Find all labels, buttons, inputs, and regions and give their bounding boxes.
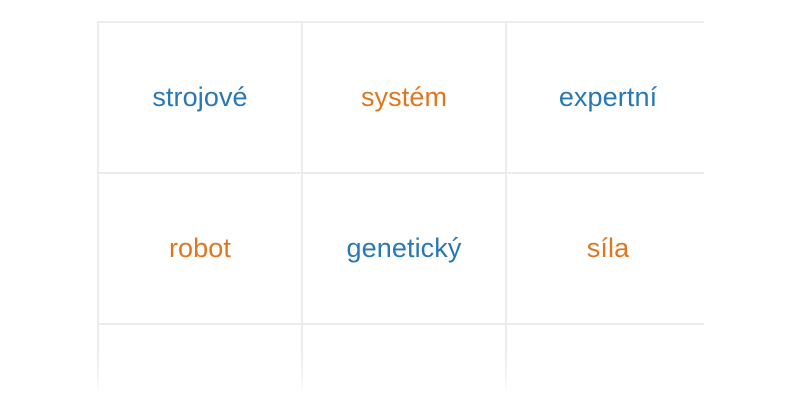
word-cell-r1c2[interactable]: síla (506, 173, 704, 324)
word-cell-r0c0[interactable]: strojové (98, 22, 302, 173)
word-cell-r1c0[interactable]: robot (98, 173, 302, 324)
word-cell-r0c1[interactable]: systém (302, 22, 506, 173)
word-label: síla (507, 234, 704, 264)
word-label: genetický (303, 234, 505, 264)
word-cell-r1c1[interactable]: genetický (302, 173, 506, 324)
word-cell-r0c2[interactable]: expertní (506, 22, 704, 173)
table-row (98, 324, 704, 400)
word-cell-r2c1[interactable] (302, 324, 506, 400)
word-label: expertní (507, 83, 704, 113)
word-label: strojové (99, 83, 301, 113)
word-label: robot (99, 234, 301, 264)
word-cell-r2c2[interactable] (506, 324, 704, 400)
table-row: strojové systém expertní (98, 22, 704, 173)
word-label: systém (303, 83, 505, 113)
word-grid: strojové systém expertní robot genetický… (97, 21, 704, 400)
word-cell-r2c0[interactable] (98, 324, 302, 400)
word-grid-viewport: strojové systém expertní robot genetický… (97, 21, 704, 400)
word-grid-body: strojové systém expertní robot genetický… (98, 22, 704, 400)
table-row: robot genetický síla (98, 173, 704, 324)
